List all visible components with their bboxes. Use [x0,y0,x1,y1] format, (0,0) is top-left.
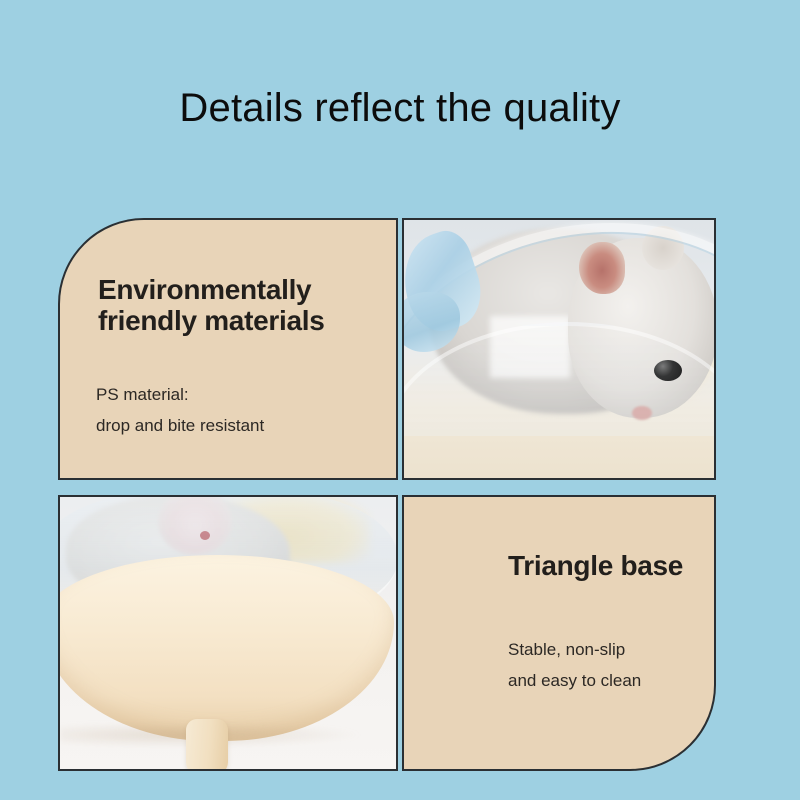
headline-triangle-base: Triangle base [508,550,716,581]
triangle-base-foot [186,719,228,771]
photo-sand-bath-triangle-foot [58,495,398,771]
headline-line-2: friendly materials [98,305,390,336]
body-line-2: and easy to clean [508,665,716,696]
body-triangle-base: Stable, non-slip and easy to clean [508,634,716,697]
body-line-1: PS material: [96,379,386,410]
feature-grid: Environmentally friendly materials PS ma… [58,218,716,771]
headline-line-1: Triangle base [508,550,716,581]
body-environmentally-friendly: PS material: drop and bite resistant [96,379,386,442]
panel-triangle-base: Triangle base Stable, non-slip and easy … [402,495,716,771]
headline-environmentally-friendly: Environmentally friendly materials [98,274,390,337]
photo-bottom-shelf [404,436,714,478]
promo-graphic: Details reflect the quality Environmenta… [0,0,800,800]
panel-environmentally-friendly-materials: Environmentally friendly materials PS ma… [58,218,398,480]
body-line-2: drop and bite resistant [96,410,386,441]
photo-hamster-in-clear-wheel [402,218,716,480]
body-line-1: Stable, non-slip [508,634,716,665]
page-title: Details reflect the quality [0,88,800,128]
headline-line-1: Environmentally [98,274,390,305]
